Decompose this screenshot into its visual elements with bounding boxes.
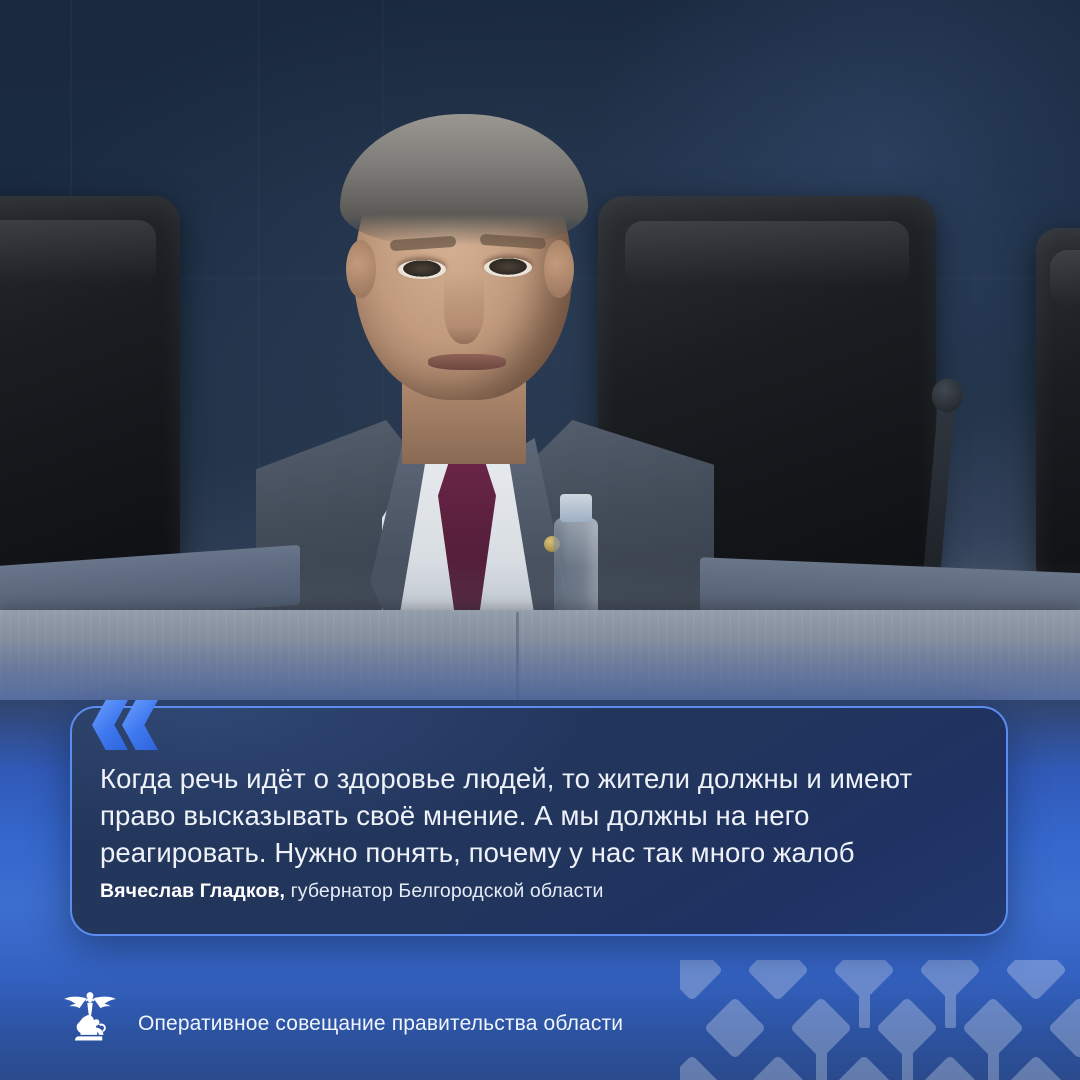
chair-far-right <box>1036 228 1080 588</box>
footer-caption: Оперативное совещание правительства обла… <box>138 1012 623 1036</box>
footer-bar: Оперативное совещание правительства обла… <box>0 950 1080 1080</box>
quote-card: Когда речь идёт о здоровье людей, то жит… <box>70 706 1008 936</box>
nose <box>444 272 484 344</box>
chair-left <box>0 196 180 598</box>
governor-at-meeting-photo <box>0 0 1080 700</box>
eye-right <box>484 258 532 277</box>
person-governor <box>262 120 762 620</box>
author-title: губернатор Белгородской области <box>285 880 603 902</box>
chevron-right-icon <box>122 700 158 750</box>
quote-attribution: Вячеслав Гладков, губернатор Белгородско… <box>100 880 604 903</box>
ear-right <box>544 240 574 298</box>
hair <box>340 114 588 246</box>
belgorod-coat-of-arms-eagle-lion-icon <box>56 984 124 1052</box>
ear-left <box>346 240 376 298</box>
eye-left <box>398 260 446 279</box>
author-name: Вячеслав Гладков, <box>100 880 285 902</box>
mouth <box>428 354 506 370</box>
double-chevron-quote-icon <box>92 700 172 752</box>
poster-canvas: Когда речь идёт о здоровье людей, то жит… <box>0 0 1080 1080</box>
quote-text: Когда речь идёт о здоровье людей, то жит… <box>100 760 976 871</box>
